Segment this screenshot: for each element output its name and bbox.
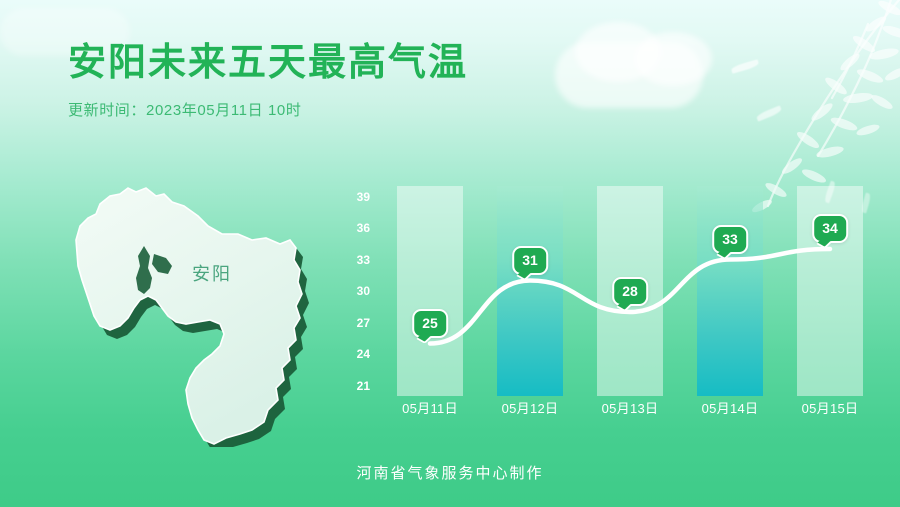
- footer-credit: 河南省气象服务中心制作: [0, 462, 900, 483]
- x-axis-label: 05月14日: [680, 398, 780, 417]
- weather-forecast-poster: 安阳未来五天最高气温 更新时间：2023年05月11日 10时 安阳 39363…: [0, 0, 900, 507]
- value-badge: 31: [512, 246, 548, 275]
- floating-leaf-icon: [756, 105, 783, 121]
- update-time-text: 更新时间：2023年05月11日 10时: [68, 99, 468, 120]
- page-title: 安阳未来五天最高气温: [68, 42, 468, 85]
- y-axis-tick: 24: [340, 347, 370, 361]
- floating-leaf-icon: [731, 59, 760, 73]
- y-axis-tick: 39: [340, 190, 370, 204]
- x-axis-label: 05月11日: [380, 398, 480, 417]
- y-axis-tick: 30: [340, 284, 370, 298]
- x-axis-label: 05月13日: [580, 398, 680, 417]
- poster-header: 安阳未来五天最高气温 更新时间：2023年05月11日 10时: [68, 42, 468, 120]
- cloud-icon: [555, 42, 703, 108]
- map-shape-icon: [52, 182, 337, 447]
- temperature-chart: 39363330272421 2531283334 05月11日05月12日05…: [340, 186, 880, 414]
- value-badge: 34: [812, 214, 848, 243]
- map-region-label: 安阳: [192, 260, 232, 286]
- y-axis-tick: 36: [340, 221, 370, 235]
- value-badge: 25: [412, 309, 448, 338]
- x-axis-label: 05月15日: [780, 398, 880, 417]
- anyang-map: 安阳: [52, 182, 337, 447]
- value-badge: 33: [712, 225, 748, 254]
- cloud-icon: [575, 22, 661, 82]
- chart-plot-area: 2531283334: [380, 186, 880, 396]
- y-axis-tick: 27: [340, 316, 370, 330]
- x-axis: 05月11日05月12日05月13日05月14日05月15日: [380, 398, 880, 417]
- x-axis-label: 05月12日: [480, 398, 580, 417]
- y-axis-tick: 21: [340, 379, 370, 393]
- y-axis-tick: 33: [340, 253, 370, 267]
- cloud-icon: [634, 32, 712, 86]
- value-badge: 28: [612, 277, 648, 306]
- y-axis: 39363330272421: [340, 186, 370, 382]
